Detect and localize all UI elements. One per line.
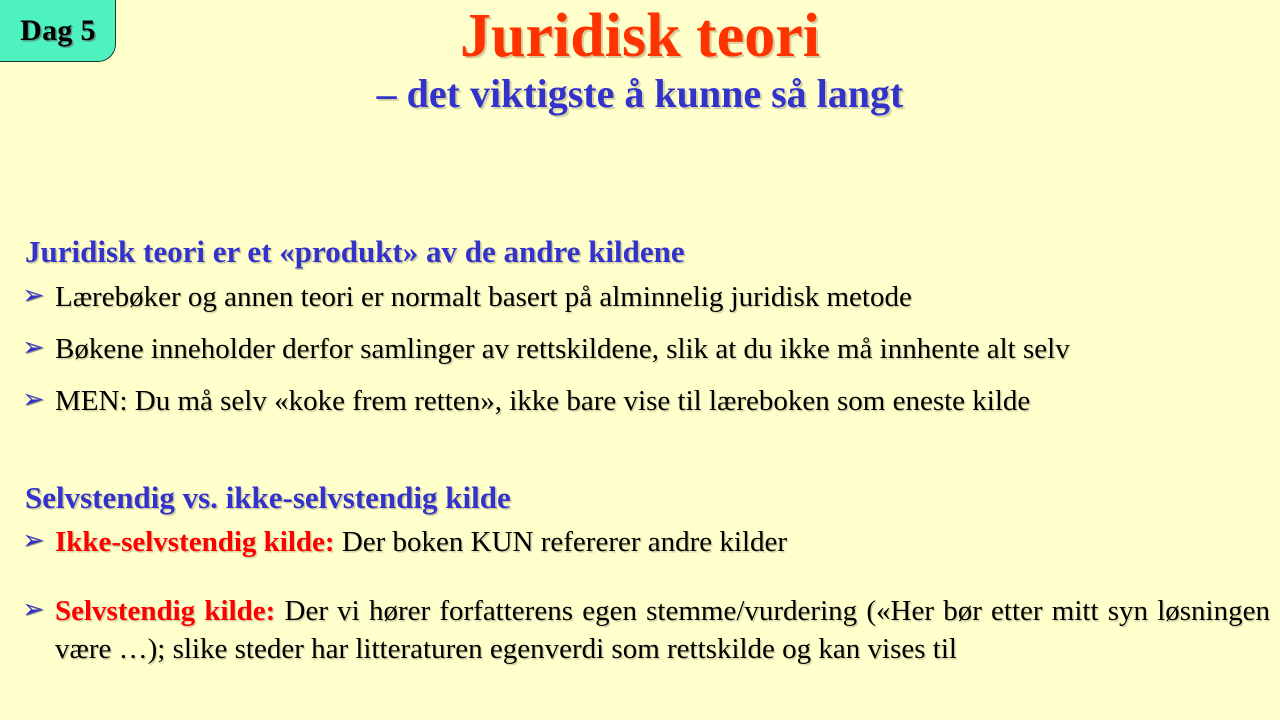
page-title: Juridisk teori xyxy=(0,4,1280,69)
list-item-text: Ikke-selvstendig kilde: Der boken KUN re… xyxy=(55,523,1270,561)
list-item: ➢ MEN: Du må selv «koke frem retten», ik… xyxy=(22,382,1270,420)
list-item-text: Lærebøker og annen teori er normalt base… xyxy=(55,278,1270,316)
chevron-right-bullet-icon: ➢ xyxy=(22,278,55,314)
list-item-lead-label: Ikke-selvstendig kilde: xyxy=(55,526,335,558)
list-item-text: Bøkene inneholder derfor samlinger av re… xyxy=(55,330,1270,368)
list-item-text: MEN: Du må selv «koke frem retten», ikke… xyxy=(55,382,1270,420)
chevron-right-bullet-icon: ➢ xyxy=(22,330,55,366)
section-heading-2: Selvstendig vs. ikke-selvstendig kilde xyxy=(25,479,1270,518)
chevron-right-bullet-icon: ➢ xyxy=(22,382,55,418)
list-item: ➢ Ikke-selvstendig kilde: Der boken KUN … xyxy=(22,523,1270,561)
section-heading-1: Juridisk teori er et «produkt» av de and… xyxy=(25,233,1270,272)
list-item-lead-label: Selvstendig kilde: xyxy=(55,595,275,627)
section-spacer xyxy=(22,421,1270,479)
bullet-spacer xyxy=(22,576,1270,592)
section-block-2: Selvstendig vs. ikke-selvstendig kilde ➢… xyxy=(22,479,1270,669)
list-item-text: Selvstendig kilde: Der vi hører forfatte… xyxy=(55,592,1270,669)
chevron-right-bullet-icon: ➢ xyxy=(22,592,55,628)
slide-body: Juridisk teori er et «produkt» av de and… xyxy=(22,233,1270,668)
page-subtitle: – det viktigste å kunne så langt xyxy=(0,69,1280,117)
list-item: ➢ Selvstendig kilde: Der vi hører forfat… xyxy=(22,592,1270,669)
slide-canvas: Dag 5 Juridisk teori – det viktigste å k… xyxy=(0,0,1280,720)
section-block-1: Juridisk teori er et «produkt» av de and… xyxy=(22,233,1270,421)
list-item: ➢ Lærebøker og annen teori er normalt ba… xyxy=(22,278,1270,316)
chevron-right-bullet-icon: ➢ xyxy=(22,523,55,559)
title-block: Juridisk teori – det viktigste å kunne s… xyxy=(0,4,1280,117)
list-item-body-text: Der boken KUN refererer andre kilder xyxy=(335,526,788,558)
list-item: ➢ Bøkene inneholder derfor samlinger av … xyxy=(22,330,1270,368)
